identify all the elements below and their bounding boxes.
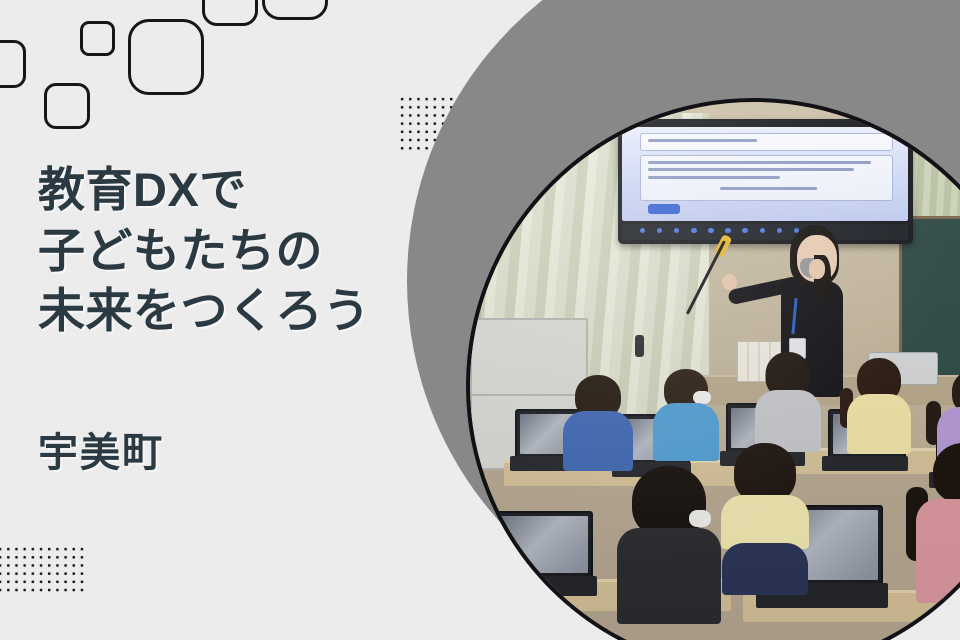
rounded-square-1-icon (0, 40, 26, 88)
taskbar-icon (742, 228, 748, 234)
display-option-row (720, 187, 817, 190)
student-body (617, 528, 721, 624)
municipality-name: 宇美町 (38, 420, 468, 478)
classroom-scene (470, 102, 960, 640)
display-submit-button (648, 204, 679, 213)
taskbar-icon (640, 228, 646, 234)
rounded-square-6-icon (262, 0, 328, 20)
classroom-display (618, 119, 913, 244)
teacher-hand-pointing (722, 274, 737, 290)
rounded-square-2-icon (44, 83, 90, 129)
laptop-base (485, 576, 597, 596)
rounded-square-4-icon (128, 19, 204, 95)
taskbar-icon (691, 228, 697, 234)
student-face-mask (689, 510, 711, 527)
laptop-lid (493, 511, 594, 578)
student-skirt (722, 543, 808, 595)
text-block: 教育DXで 子どもたちの 未来をつくろう 宇美町 (38, 160, 468, 478)
display-text-line (648, 176, 780, 179)
display-text-line (648, 168, 854, 171)
classroom-photo (466, 98, 960, 640)
student (709, 443, 823, 636)
student-body (916, 499, 960, 603)
student-body (563, 411, 633, 471)
student-body (721, 495, 809, 549)
display-text-line (648, 161, 871, 164)
water-bottle (635, 335, 644, 357)
page-title: 教育DXで 子どもたちの 未来をつくろう (38, 160, 468, 342)
poster-canvas: 教育DXで 子どもたちの 未来をつくろう 宇美町 (0, 0, 960, 640)
display-screen (622, 127, 908, 222)
taskbar-icon (777, 228, 783, 234)
student-head (734, 443, 796, 503)
taskbar-icon (657, 228, 663, 234)
photo-inner (470, 102, 960, 640)
rounded-square-3-icon (80, 21, 115, 56)
student-laptop (493, 511, 590, 596)
student-head (933, 443, 960, 503)
display-form-header (640, 133, 894, 151)
rounded-square-5-icon (202, 0, 258, 26)
taskbar-icon (708, 228, 714, 234)
taskbar-icon (760, 228, 766, 234)
taskbar-icon (674, 228, 680, 234)
teacher-hand-raised (809, 259, 825, 279)
dot-grid-bottom-icon (0, 545, 84, 595)
display-taskbar (622, 224, 908, 240)
display-text-line (648, 139, 757, 142)
taskbar-icon (725, 228, 731, 234)
student (902, 443, 960, 640)
